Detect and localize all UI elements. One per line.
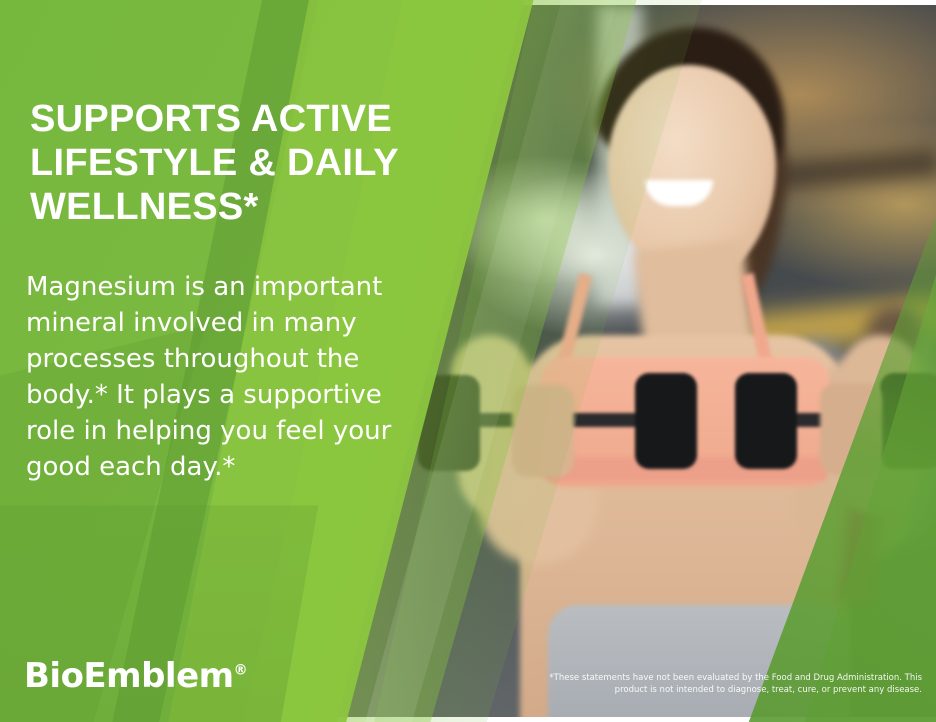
product-banner: SUPPORTS ACTIVE LIFESTYLE & DAILY WELLNE… <box>0 0 936 722</box>
fda-disclaimer: *These statements have not been evaluate… <box>522 672 922 696</box>
brand-logo: BioEmblem® <box>24 656 247 696</box>
page-title: SUPPORTS ACTIVE LIFESTYLE & DAILY WELLNE… <box>30 97 450 229</box>
brand-logo-text: BioEmblem <box>24 656 234 696</box>
registered-trademark-icon: ® <box>234 663 248 679</box>
body-paragraph: Magnesium is an important mineral involv… <box>26 269 426 485</box>
